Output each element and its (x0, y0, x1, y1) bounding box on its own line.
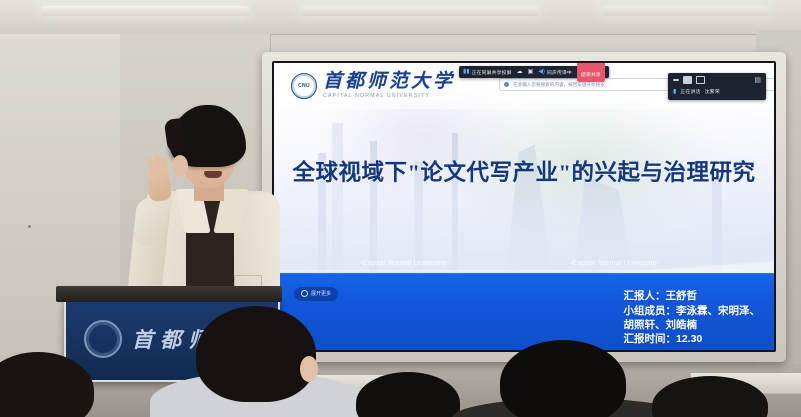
ceiling-light (300, 6, 540, 16)
mouth (204, 171, 222, 178)
footer-label-right: -Capital Normal University- (570, 260, 659, 267)
ceiling-light (600, 6, 770, 16)
minimize-icon[interactable] (673, 79, 679, 81)
audience-head (500, 340, 626, 417)
credit-members-line2: 胡照轩、刘皓楠 (624, 318, 761, 332)
university-name-block: 首都师范大学 CAPITAL NORMAL UNIVERSITY (323, 72, 455, 99)
end-share-button[interactable]: 结束共享 (577, 63, 605, 82)
wall-display[interactable]: CNU 首都师范大学 CAPITAL NORMAL UNIVERSITY 在此输… (262, 52, 786, 362)
slide-building-silhouette (712, 177, 722, 273)
toolbar-translate[interactable]: ◀) 同声传译中 (538, 69, 572, 76)
toolbar-share-status[interactable]: ▮▮ 正在同屏共享投屏 (463, 69, 512, 76)
cloud-icon[interactable]: ☁ (517, 69, 523, 75)
speaking-status-label: 正在讲话 (680, 88, 700, 95)
microphone-icon[interactable]: ▮ (673, 89, 676, 95)
university-logo: CNU 首都师范大学 CAPITAL NORMAL UNIVERSITY (291, 72, 455, 99)
finger (161, 157, 167, 175)
slide-footer-band: -Capital Normal University- -Capital Nor… (274, 273, 774, 350)
audience-head (196, 306, 316, 402)
credit-presenter: 汇报人：王舒哲 (624, 289, 761, 304)
display-inner-frame: CNU 首都师范大学 CAPITAL NORMAL UNIVERSITY 在此输… (272, 61, 776, 352)
toolbar-translate-label: 同声传译中 (547, 69, 572, 76)
slide-more-label: 展开更多 (311, 290, 331, 297)
cnu-seal-text: CNU (298, 83, 310, 89)
slide-credits: 汇报人：王舒哲 小组成员：李泳霖、宋明泽、 胡照轩、刘皓楠 汇报时间：12.30 (624, 289, 761, 348)
slide-building-silhouette (332, 123, 343, 273)
display-screen[interactable]: CNU 首都师范大学 CAPITAL NORMAL UNIVERSITY 在此输… (274, 63, 774, 350)
document-icon[interactable]: ▣ (528, 69, 534, 75)
screen-icon[interactable] (683, 76, 692, 84)
cnu-seal-icon (84, 320, 122, 358)
meeting-panel-speaker-row: ▮ 正在讲话 沈繁荣 (673, 88, 761, 95)
speaker-name-label: 沈繁荣 (705, 88, 720, 95)
university-name-en: CAPITAL NORMAL UNIVERSITY (323, 93, 455, 99)
lectern-surface (56, 286, 282, 302)
slide-more-button[interactable]: 展开更多 (294, 287, 338, 301)
credit-members-line1: 小组成员：李泳霖、宋明泽、 (624, 304, 761, 318)
footer-label-left: -Capital Normal University- (360, 260, 449, 267)
university-name-cn: 首都师范大学 (323, 72, 455, 91)
search-icon (504, 82, 509, 87)
document-icon[interactable] (696, 76, 705, 84)
screen-share-toolbar[interactable]: ▮▮ 正在同屏共享投屏 ☁ ▣ ◀) 同声传译中 结束共享 (459, 66, 609, 78)
more-icon (301, 290, 308, 297)
credit-time: 汇报时间：12.30 (624, 332, 761, 347)
microphone-icon: ◀) (538, 69, 545, 75)
wall-mark (28, 225, 31, 228)
layout-icon[interactable]: ▤ (754, 77, 761, 84)
cnu-seal-icon: CNU (291, 73, 317, 99)
ceiling-light (40, 6, 250, 16)
slide-title: 全球视域下"论文代写产业"的兴起与治理研究 (274, 155, 774, 187)
screenshot-root: CNU 首都师范大学 CAPITAL NORMAL UNIVERSITY 在此输… (0, 0, 801, 417)
meeting-control-panel[interactable]: ▮ 正在讲话 沈繁荣 ▤ (668, 73, 766, 100)
slide-building-silhouette (452, 133, 458, 273)
end-share-label: 结束共享 (581, 73, 601, 78)
signal-icon: ▮▮ (463, 69, 470, 75)
band-highlight (274, 270, 774, 274)
meeting-panel-icon-row (673, 76, 761, 84)
ear (172, 155, 188, 177)
ear (300, 356, 318, 382)
raised-hand (146, 166, 171, 202)
toolbar-share-label: 正在同屏共享投屏 (472, 69, 512, 76)
presentation-slide: CNU 首都师范大学 CAPITAL NORMAL UNIVERSITY 在此输… (274, 63, 774, 350)
